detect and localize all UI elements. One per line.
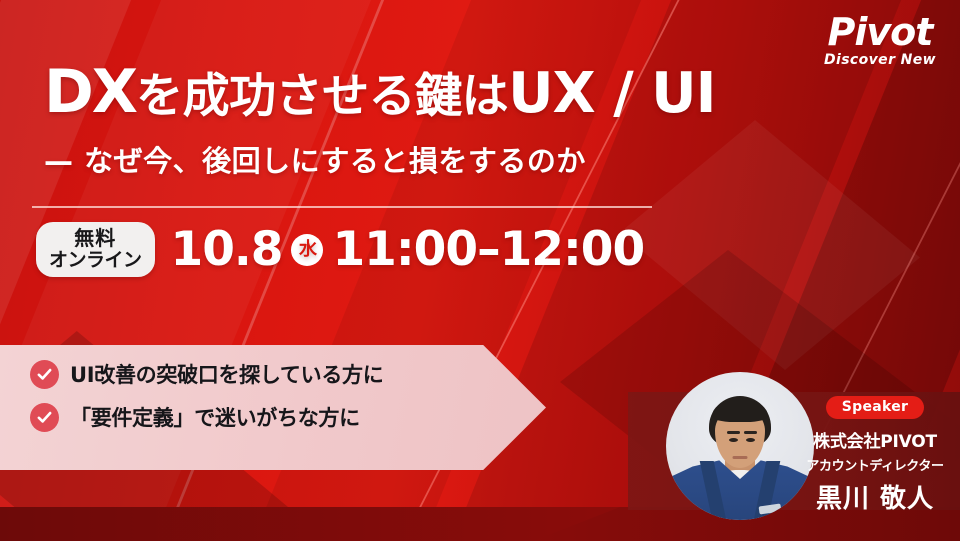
speaker-info: Speaker 株式会社PIVOT アカウントディレクター 黒川 敬人 bbox=[790, 396, 960, 515]
weekday-badge: 水 bbox=[291, 234, 323, 266]
check-icon bbox=[30, 403, 59, 432]
event-time: 11:00–12:00 bbox=[332, 226, 644, 273]
title-suffix: UX / UI bbox=[508, 61, 715, 126]
bottom-band-overlay bbox=[0, 507, 620, 541]
title-block: DXを成功させる鍵はUX / UI — なぜ今、後回しにすると損をするのか bbox=[44, 62, 715, 180]
page-title: DXを成功させる鍵はUX / UI bbox=[44, 62, 715, 122]
logo-tagline: Discover New bbox=[824, 52, 936, 68]
divider bbox=[32, 206, 652, 208]
avatar-eye bbox=[746, 438, 755, 442]
pivot-logo: Pivot Discover New bbox=[824, 14, 936, 68]
logo-wordmark: Pivot bbox=[824, 14, 936, 50]
avatar-fringe bbox=[712, 400, 768, 422]
avatar-mouth bbox=[733, 456, 748, 459]
avatar-eye bbox=[729, 438, 738, 442]
avatar-eyebrow bbox=[727, 431, 740, 434]
speaker-role: アカウントディレクター bbox=[790, 455, 960, 474]
list-item-label: UI改善の突破口を探している方に bbox=[70, 359, 383, 389]
date-time: 10.8 水 11:00–12:00 bbox=[171, 226, 645, 273]
speaker-badge: Speaker bbox=[826, 396, 924, 419]
event-date: 10.8 bbox=[171, 226, 283, 273]
title-middle: を成功させる鍵は bbox=[136, 69, 508, 124]
list-item: 「要件定義」で迷いがちな方に bbox=[30, 402, 546, 432]
schedule-row: 無料 オンライン 10.8 水 11:00–12:00 bbox=[36, 222, 644, 277]
speaker-company: 株式会社PIVOT bbox=[790, 427, 960, 452]
webinar-banner: Pivot Discover New DXを成功させる鍵はUX / UI — な… bbox=[0, 0, 960, 541]
audience-panel: UI改善の突破口を探している方に 「要件定義」で迷いがちな方に bbox=[0, 345, 546, 470]
page-subtitle: — なぜ今、後回しにすると損をするのか bbox=[44, 138, 715, 180]
list-item-label: 「要件定義」で迷いがちな方に bbox=[70, 402, 360, 432]
avatar-eyebrow bbox=[744, 431, 757, 434]
check-icon bbox=[30, 360, 59, 389]
title-prefix: DX bbox=[44, 57, 136, 127]
free-online-badge: 無料 オンライン bbox=[36, 222, 155, 277]
badge-line-1: 無料 bbox=[49, 228, 142, 250]
speaker-name: 黒川 敬人 bbox=[790, 478, 960, 515]
badge-line-2: オンライン bbox=[49, 250, 142, 271]
list-item: UI改善の突破口を探している方に bbox=[30, 359, 546, 389]
